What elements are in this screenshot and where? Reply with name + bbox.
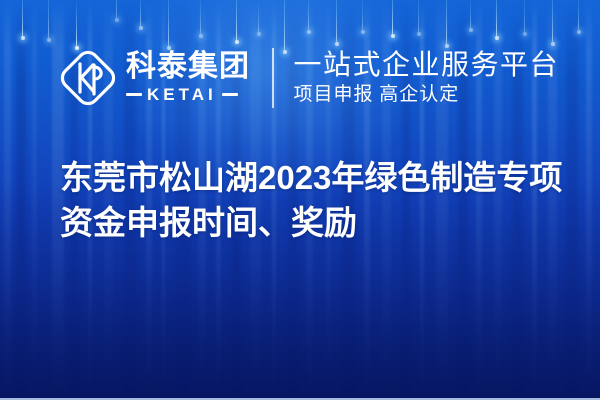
headline: 东莞市松山湖2023年绿色制造专项 资金申报时间、奖励 (60, 155, 580, 245)
brand-name-en: KETAI (147, 85, 217, 105)
banner-header: 科泰集团 KETAI 一站式企业服务平台 项目申报 高企认定 (58, 42, 559, 114)
headline-line-1: 东莞市松山湖2023年绿色制造专项 (60, 155, 580, 200)
rule-right-icon (222, 93, 238, 96)
ketai-logo-icon (58, 48, 118, 108)
brand-name-cn: 科泰集团 (126, 51, 250, 83)
tagline-main: 一站式企业服务平台 (294, 49, 560, 80)
headline-line-2: 资金申报时间、奖励 (60, 200, 580, 245)
tagline-block: 一站式企业服务平台 项目申报 高企认定 (294, 49, 560, 107)
brand-wordmark: 科泰集团 KETAI (126, 51, 250, 105)
header-divider (272, 48, 274, 108)
tagline-sub: 项目申报 高企认定 (294, 83, 560, 107)
brand-name-en-row: KETAI (126, 85, 250, 105)
promo-banner: 科泰集团 KETAI 一站式企业服务平台 项目申报 高企认定 东莞市松山湖202… (0, 0, 600, 400)
rule-left-icon (126, 93, 142, 96)
